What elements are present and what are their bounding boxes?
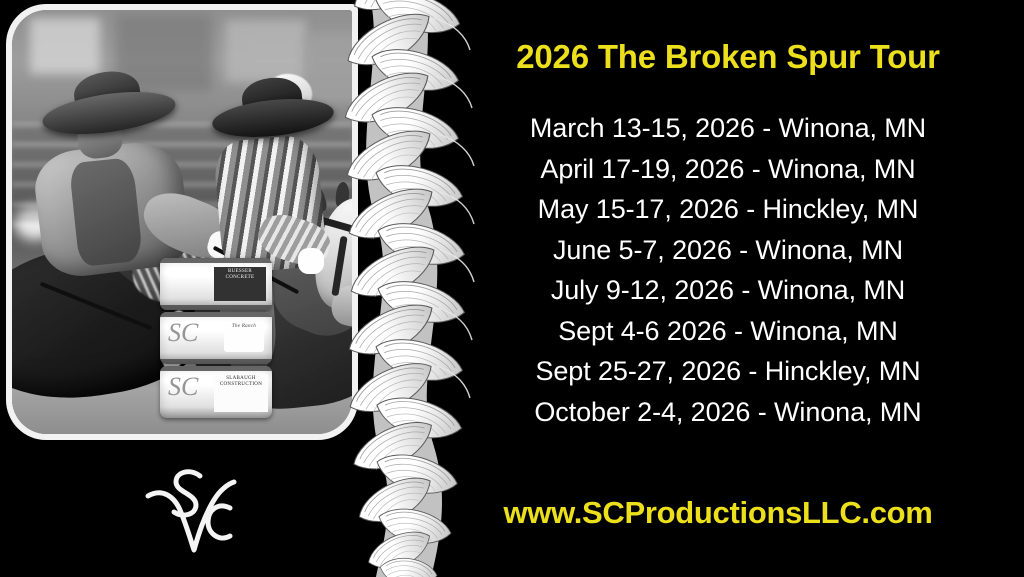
list-item: May 15-17, 2026 - Hinckley, MN	[440, 189, 1016, 230]
barrel-rim	[160, 312, 272, 317]
barrel-sponsor-label: The Ranch	[224, 322, 264, 352]
rider-right-glove	[298, 248, 324, 274]
list-item: June 5-7, 2026 - Winona, MN	[440, 230, 1016, 271]
list-item: March 13-15, 2026 - Winona, MN	[440, 108, 1016, 149]
arena-banner	[226, 20, 306, 82]
list-item: October 2-4, 2026 - Winona, MN	[440, 392, 1016, 433]
list-item: Sept 25-27, 2026 - Hinckley, MN	[440, 351, 1016, 392]
list-item: July 9-12, 2026 - Winona, MN	[440, 270, 1016, 311]
barrel-bottom: SC SLABAUGH CONSTRUCTION	[160, 366, 272, 418]
barrel-rim	[160, 359, 272, 364]
rider-left-vest	[69, 157, 144, 267]
barrel-rim	[160, 305, 272, 310]
barrel-sc-mark: SC	[168, 318, 198, 348]
barrel-sc-mark: SC	[168, 372, 198, 402]
tour-poster: BUESSER CONCRETE SC The Ranch SC SLABAUG…	[0, 0, 1024, 577]
list-item: Sept 4-6 2026 - Winona, MN	[440, 311, 1016, 352]
barrel-rim	[160, 366, 272, 371]
rodeo-barrel-racing-photo: BUESSER CONCRETE SC The Ranch SC SLABAUG…	[12, 10, 352, 434]
barrel-sponsor-label: BUESSER CONCRETE	[214, 267, 266, 301]
arena-banner	[30, 18, 100, 74]
barrel-middle: SC The Ranch	[160, 312, 272, 364]
barrel-sponsor-label: SLABAUGH CONSTRUCTION	[214, 374, 268, 412]
barrel-top: BUESSER CONCRETE	[160, 258, 272, 310]
list-item: April 17-19, 2026 - Winona, MN	[440, 149, 1016, 190]
sc-monogram-logo	[140, 460, 244, 560]
website-url[interactable]: www.SCProductionsLLC.com	[420, 495, 1016, 531]
barrel-rim	[160, 258, 272, 263]
page-title: 2026 The Broken Spur Tour	[440, 38, 1016, 76]
tour-date-list: March 13-15, 2026 - Winona, MN April 17-…	[440, 108, 1016, 432]
rodeo-photo-frame: BUESSER CONCRETE SC The Ranch SC SLABAUG…	[6, 4, 358, 440]
